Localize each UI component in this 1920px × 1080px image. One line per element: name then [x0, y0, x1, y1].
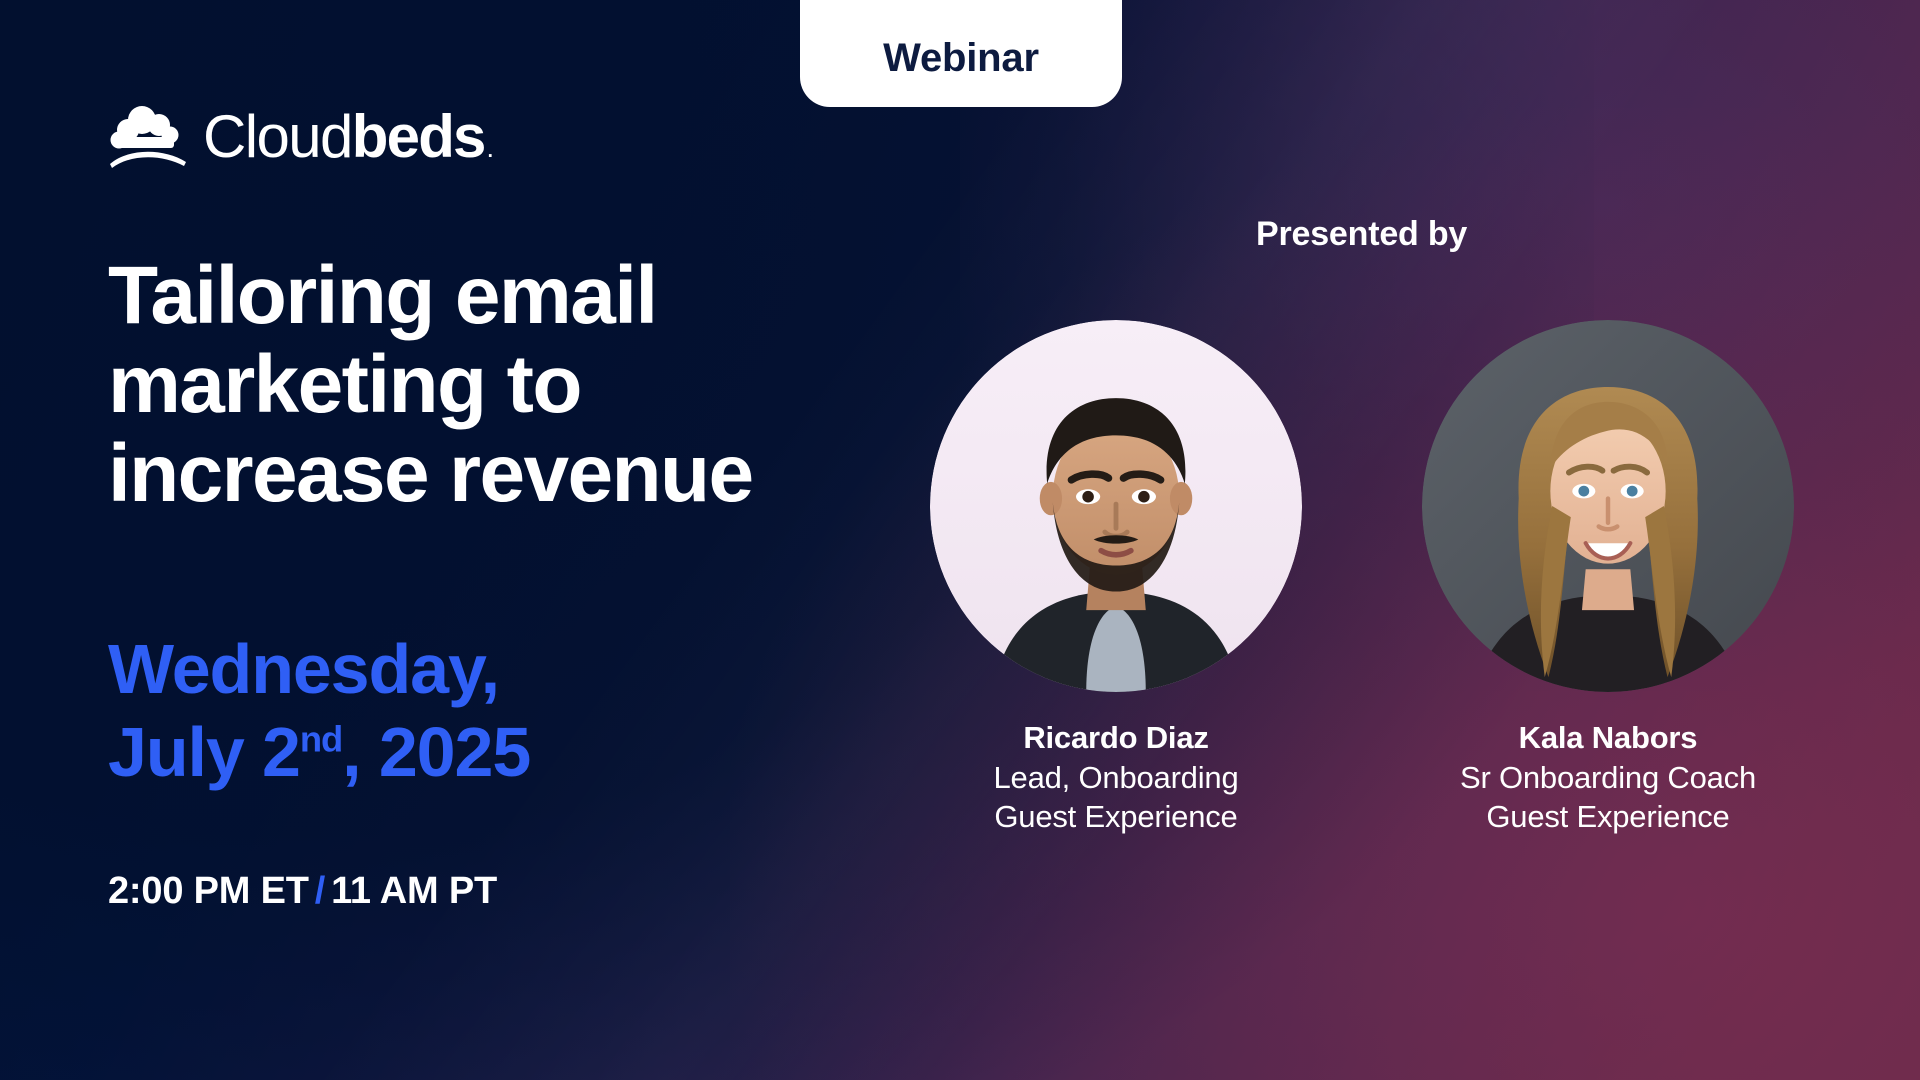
event-date: Wednesday, July 2nd, 2025 — [108, 628, 530, 793]
avatar — [1422, 320, 1794, 692]
headline-line-3: increase revenue — [108, 430, 868, 519]
logo-registered-mark: . — [488, 141, 493, 163]
headline-line-2: marketing to — [108, 341, 868, 430]
event-date-month-day: July 2 — [108, 713, 300, 791]
cloudbeds-bed-cloud-icon — [108, 104, 194, 170]
speaker-role: Lead, Onboarding — [994, 758, 1239, 798]
speaker-name: Kala Nabors — [1460, 718, 1756, 758]
speaker-card: Kala Nabors Sr Onboarding Coach Guest Ex… — [1422, 320, 1794, 837]
speaker-role: Sr Onboarding Coach — [1460, 758, 1756, 798]
speaker-card: Ricardo Diaz Lead, Onboarding Guest Expe… — [930, 320, 1302, 837]
webinar-badge: Webinar — [800, 0, 1122, 107]
page-title: Tailoring email marketing to increase re… — [108, 252, 868, 519]
event-date-year: , 2025 — [342, 713, 530, 791]
speaker-department: Guest Experience — [1460, 797, 1756, 837]
event-time: 2:00 PM ET/11 AM PT — [108, 870, 497, 913]
speaker-info: Kala Nabors Sr Onboarding Coach Guest Ex… — [1460, 718, 1756, 837]
event-time-pacific: 11 AM PT — [331, 870, 497, 912]
event-time-eastern: 2:00 PM ET — [108, 870, 309, 912]
webinar-badge-label: Webinar — [883, 36, 1039, 81]
speaker-info: Ricardo Diaz Lead, Onboarding Guest Expe… — [994, 718, 1239, 837]
speaker-department: Guest Experience — [994, 797, 1239, 837]
cloudbeds-wordmark: Cloud beds . — [203, 107, 493, 167]
event-date-ordinal: nd — [300, 718, 342, 759]
event-date-weekday: Wednesday, — [108, 628, 530, 711]
event-time-separator: / — [315, 870, 325, 912]
speaker-name: Ricardo Diaz — [994, 718, 1239, 758]
cloudbeds-logo: Cloud beds . — [108, 104, 493, 170]
event-date-full: July 2nd, 2025 — [108, 711, 530, 794]
avatar — [930, 320, 1302, 692]
logo-word-beds: beds — [352, 107, 485, 167]
logo-word-cloud: Cloud — [203, 107, 352, 167]
headline-line-1: Tailoring email — [108, 252, 868, 341]
speakers-list: Ricardo Diaz Lead, Onboarding Guest Expe… — [930, 320, 1830, 837]
webinar-promo-graphic: Webinar Cloud beds — [0, 0, 1920, 1080]
presented-by-heading: Presented by — [1256, 215, 1467, 254]
